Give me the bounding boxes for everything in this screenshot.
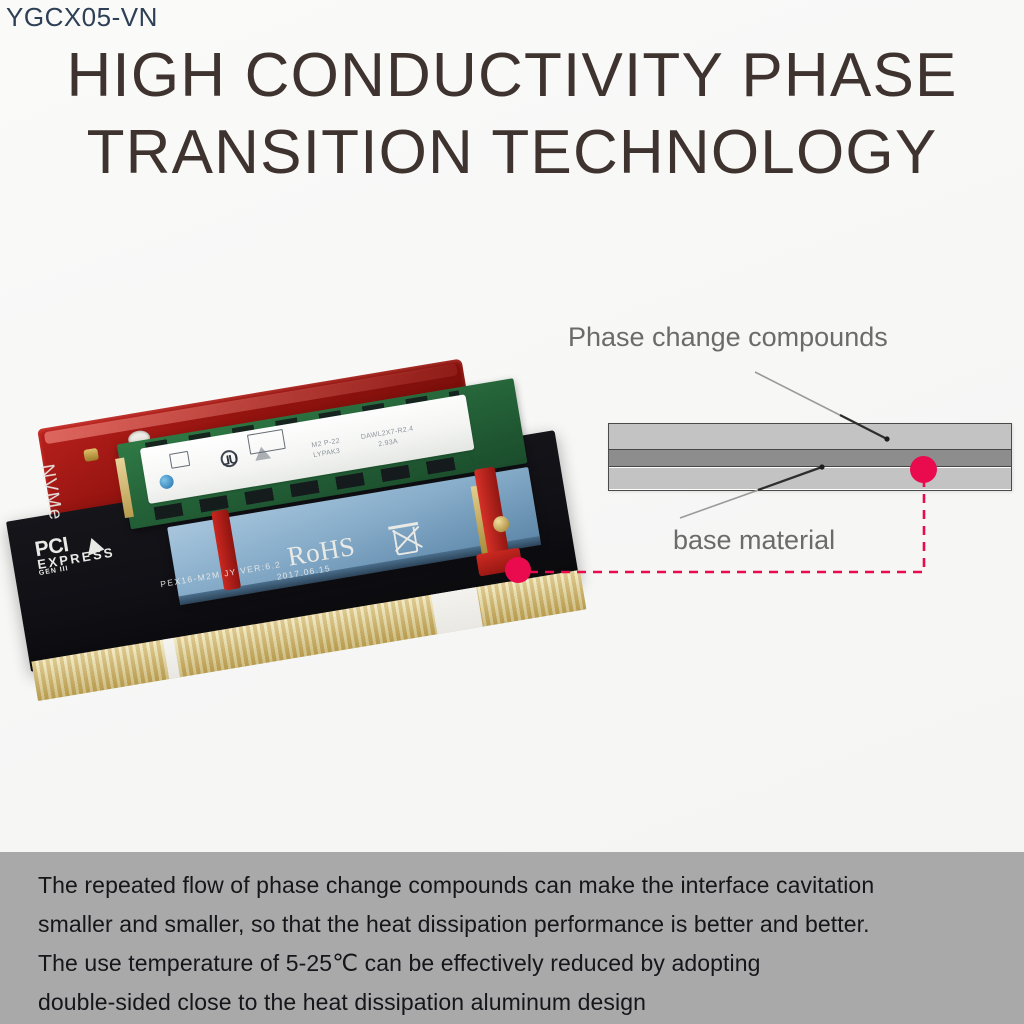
leader-line-bottom-arrow — [758, 467, 822, 490]
callout-marker-diagram — [910, 456, 937, 483]
caption-band: The repeated flow of phase change compou… — [0, 852, 1024, 1024]
esd-caution-icon — [159, 474, 175, 490]
connector-key-notch-2 — [431, 587, 483, 634]
seller-watermark: YGCX05-VN — [6, 2, 158, 33]
leader-dot-top — [884, 436, 889, 441]
caption-line-2: smaller and smaller, so that the heat di… — [38, 905, 998, 944]
caption-paragraph: The repeated flow of phase change compou… — [38, 866, 998, 1022]
rohs-mark-icon — [247, 429, 286, 455]
page-title-line-1: HIGH CONDUCTIVITY PHASE — [0, 46, 1024, 107]
cross-section-diagram: Phase change compounds base material — [540, 320, 1024, 600]
leader-lines — [540, 320, 1024, 600]
caption-line-1: The repeated flow of phase change compou… — [38, 866, 998, 905]
callout-marker-product — [505, 557, 531, 583]
ssd-label-text-4: 2.93A — [378, 438, 399, 448]
ssd-label-text-3: LYPAK3 — [313, 448, 341, 459]
leader-dot-bottom — [819, 464, 824, 469]
caption-line-4: double-sided close to the heat dissipati… — [38, 983, 998, 1022]
caption-line-3: The use temperature of 5-25℃ can be effe… — [38, 944, 998, 983]
leader-line-top-arrow — [840, 415, 887, 439]
bracket-screw — [83, 448, 99, 462]
page-title-line-2: TRANSITION TECHNOLOGY — [0, 123, 1024, 184]
page-title: HIGH CONDUCTIVITY PHASE TRANSITION TECHN… — [0, 46, 1024, 184]
ru-mark-icon: UL — [222, 451, 240, 468]
weee-bin-icon — [169, 451, 190, 469]
marketing-image-canvas: YGCX05-VN HIGH CONDUCTIVITY PHASE TRANSI… — [0, 0, 1024, 1024]
product-photograph: UL M2 P-22 DAWL2X7-R2.4 LYPAK3 2.93A — [0, 330, 600, 850]
